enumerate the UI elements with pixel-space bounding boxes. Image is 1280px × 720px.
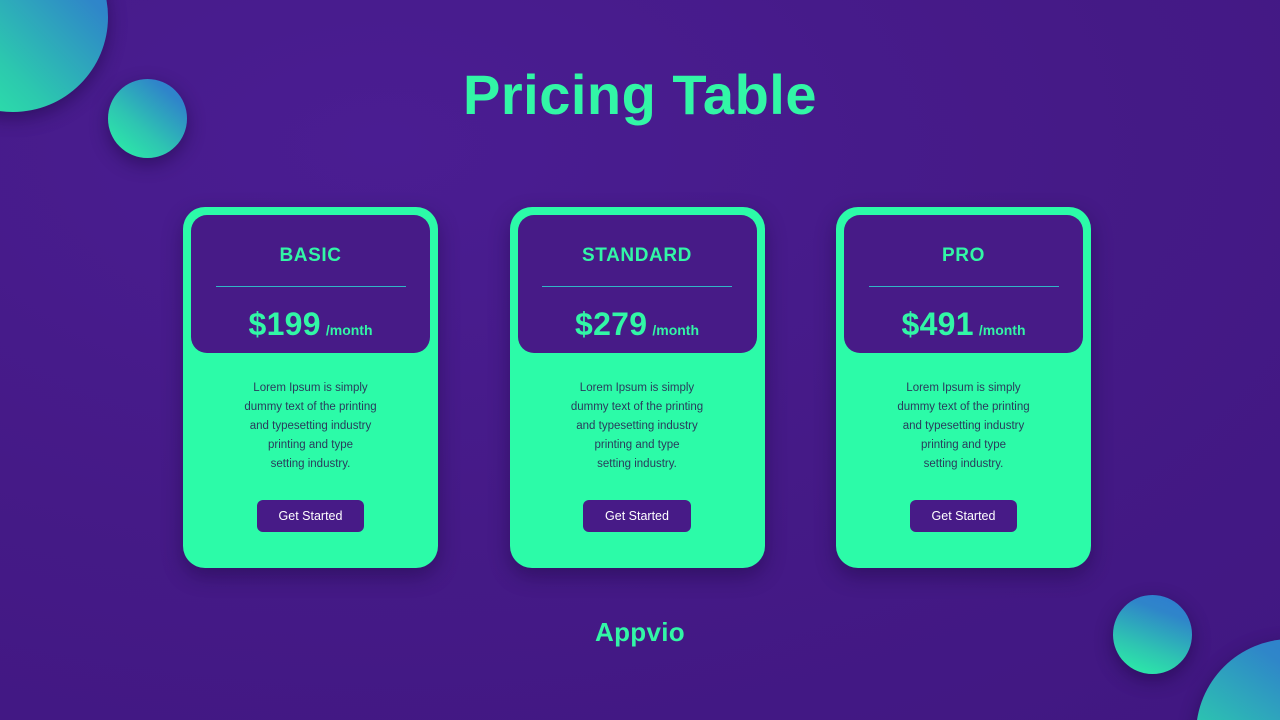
price-row: $279 /month <box>575 306 699 343</box>
plan-period: /month <box>652 322 699 338</box>
plan-description: Lorem Ipsum is simply dummy text of the … <box>571 379 703 474</box>
plan-price: $491 <box>901 306 973 343</box>
get-started-button[interactable]: Get Started <box>583 500 691 532</box>
plan-name: BASIC <box>279 245 341 267</box>
card-body: Lorem Ipsum is simply dummy text of the … <box>844 353 1083 568</box>
card-header: STANDARD $279 /month <box>518 215 757 353</box>
header-divider <box>216 286 406 287</box>
circle-bottom-right-large <box>1196 639 1280 720</box>
plan-price: $279 <box>575 306 647 343</box>
brand-name: Appvio <box>0 617 1280 648</box>
get-started-button[interactable]: Get Started <box>257 500 365 532</box>
plan-name: PRO <box>942 245 985 267</box>
price-row: $199 /month <box>248 306 372 343</box>
pricing-table-slide: Pricing Table BASIC $199 /month Lorem Ip… <box>0 0 1280 720</box>
card-body: Lorem Ipsum is simply dummy text of the … <box>191 353 430 568</box>
pricing-cards-row: BASIC $199 /month Lorem Ipsum is simply … <box>183 207 1091 568</box>
plan-period: /month <box>326 322 373 338</box>
card-body: Lorem Ipsum is simply dummy text of the … <box>518 353 757 568</box>
get-started-button[interactable]: Get Started <box>910 500 1018 532</box>
pricing-card-basic: BASIC $199 /month Lorem Ipsum is simply … <box>183 207 438 568</box>
header-divider <box>869 286 1059 287</box>
plan-name: STANDARD <box>582 245 692 267</box>
pricing-card-standard: STANDARD $279 /month Lorem Ipsum is simp… <box>510 207 765 568</box>
plan-description: Lorem Ipsum is simply dummy text of the … <box>244 379 376 474</box>
header-divider <box>542 286 732 287</box>
plan-price: $199 <box>248 306 320 343</box>
plan-period: /month <box>979 322 1026 338</box>
plan-description: Lorem Ipsum is simply dummy text of the … <box>897 379 1029 474</box>
card-header: BASIC $199 /month <box>191 215 430 353</box>
page-title: Pricing Table <box>0 62 1280 127</box>
pricing-card-pro: PRO $491 /month Lorem Ipsum is simply du… <box>836 207 1091 568</box>
price-row: $491 /month <box>901 306 1025 343</box>
card-header: PRO $491 /month <box>844 215 1083 353</box>
